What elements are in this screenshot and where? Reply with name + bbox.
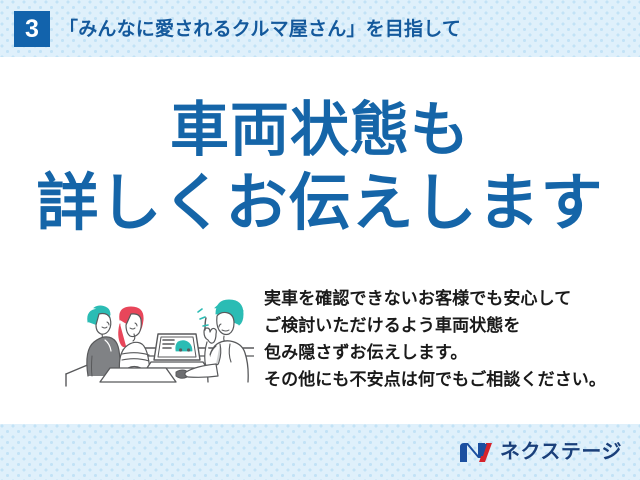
consultation-illustration-svg — [58, 278, 254, 390]
headline-line-2: 詳しくお伝えします — [0, 166, 640, 242]
body-copy: 実車を確認できないお客様でも安心して ご検討いただけるよう車両状態を 包み隠さず… — [264, 285, 614, 393]
headline: 車両状態も 詳しくお伝えします — [0, 94, 640, 242]
brand-wordmark: ネクステージ — [500, 440, 622, 465]
body-copy-line-1: 実車を確認できないお客様でも安心して — [264, 285, 614, 312]
headline-line-1: 車両状態も — [0, 94, 640, 166]
body-copy-line-2: ご検討いただけるよう車両状態を — [264, 312, 614, 339]
promotional-banner: 3 「みんなに愛されるクルマ屋さん」を目指して 車両状態も 詳しくお伝えします — [0, 0, 640, 480]
consultation-illustration — [58, 278, 254, 390]
nextage-n-logo-icon — [459, 440, 493, 465]
body-copy-line-4: その他にも不安点は何でもご相談ください。 — [264, 366, 614, 393]
body-copy-line-3: 包み隠さずお伝えします。 — [264, 339, 614, 366]
brand-logo-lockup: ネクステージ — [459, 437, 622, 467]
header-title: 「みんなに愛されるクルマ屋さん」を目指して — [59, 16, 461, 44]
step-number-badge: 3 — [14, 11, 50, 47]
